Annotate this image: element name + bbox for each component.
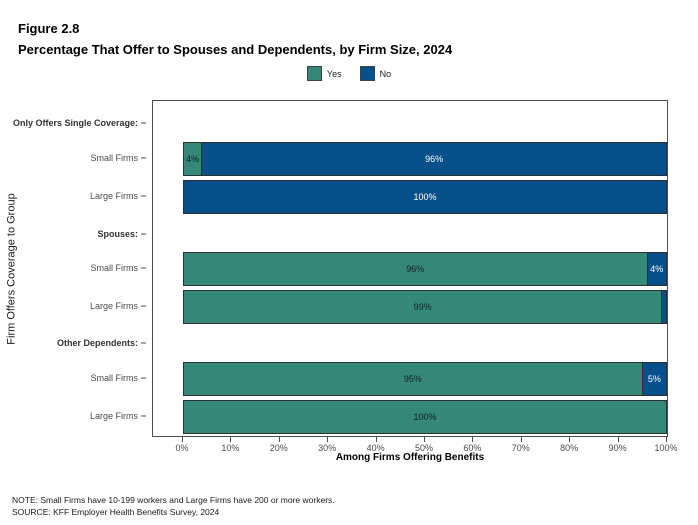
x-axis-tick <box>424 437 425 442</box>
bar-segment-yes[interactable]: 96% <box>183 252 648 286</box>
bar-value-label: 100% <box>413 193 436 202</box>
y-axis-tick <box>141 123 146 124</box>
x-axis-tick <box>376 437 377 442</box>
page-title: Percentage That Offer to Spouses and Dep… <box>18 39 678 60</box>
y-axis-row-label: Large Firms <box>90 411 138 421</box>
bar-value-label: 96% <box>406 265 424 274</box>
x-axis-tick <box>230 437 231 442</box>
bar-segment-no[interactable]: 100% <box>183 180 667 214</box>
y-axis-group-label: Spouses: <box>97 229 138 239</box>
y-axis-row-label: Large Firms <box>90 301 138 311</box>
figure-header: Figure 2.8 Percentage That Offer to Spou… <box>18 18 678 60</box>
x-axis-tick <box>182 437 183 442</box>
chart-legend: YesNo <box>0 66 698 81</box>
plot-area: 4%96%100%96%4%99%95%5%100% <box>152 100 668 437</box>
bar-value-label: 100% <box>413 413 436 422</box>
x-axis-tick <box>472 437 473 442</box>
y-axis-group-label: Only Offers Single Coverage: <box>13 118 138 128</box>
x-axis-title: Among Firms Offering Benefits <box>152 452 668 463</box>
footnote-note: NOTE: Small Firms have 10-199 workers an… <box>12 494 682 506</box>
y-axis-row-label: Small Firms <box>91 373 139 383</box>
bar-value-label: 99% <box>414 303 432 312</box>
legend-label-yes: Yes <box>327 69 342 79</box>
footnote-source: SOURCE: KFF Employer Health Benefits Sur… <box>12 506 682 518</box>
bar-value-label: 95% <box>404 375 422 384</box>
legend-item-no[interactable]: No <box>360 66 392 81</box>
bar-row: 95%5% <box>183 362 667 396</box>
legend-item-yes[interactable]: Yes <box>307 66 342 81</box>
figure-number: Figure 2.8 <box>18 18 678 39</box>
x-axis-tick <box>618 437 619 442</box>
bar-segment-yes[interactable]: 99% <box>183 290 662 324</box>
y-axis-tick <box>141 234 146 235</box>
y-axis-row-label: Large Firms <box>90 191 138 201</box>
legend-label-no: No <box>380 69 392 79</box>
bar-segment-yes[interactable]: 4% <box>183 142 202 176</box>
bar-segment-no[interactable] <box>662 290 667 324</box>
y-axis-tick <box>141 268 146 269</box>
y-axis-tick <box>141 416 146 417</box>
x-axis-tick <box>666 437 667 442</box>
legend-swatch-no <box>360 66 375 81</box>
y-axis-labels: Only Offers Single Coverage:Small FirmsL… <box>0 100 146 437</box>
y-axis-tick <box>141 158 146 159</box>
bar-value-label: 4% <box>650 265 663 274</box>
bar-value-label: 96% <box>425 155 443 164</box>
bar-value-label: 4% <box>186 155 199 164</box>
bar-row: 100% <box>183 400 667 434</box>
bar-segment-no[interactable]: 5% <box>643 362 667 396</box>
y-axis-tick <box>141 378 146 379</box>
bar-segment-yes[interactable]: 100% <box>183 400 667 434</box>
bar-row: 4%96% <box>183 142 667 176</box>
y-axis-tick <box>141 343 146 344</box>
x-axis-tick <box>279 437 280 442</box>
y-axis-row-label: Small Firms <box>91 153 139 163</box>
legend-swatch-yes <box>307 66 322 81</box>
bars-layer: 4%96%100%96%4%99%95%5%100% <box>153 101 667 436</box>
bar-segment-yes[interactable]: 95% <box>183 362 643 396</box>
x-axis-tick <box>521 437 522 442</box>
bar-value-label: 5% <box>648 375 661 384</box>
y-axis-tick <box>141 306 146 307</box>
footnotes: NOTE: Small Firms have 10-199 workers an… <box>12 494 682 518</box>
y-axis-tick <box>141 196 146 197</box>
y-axis-row-label: Small Firms <box>91 263 139 273</box>
bar-segment-no[interactable]: 4% <box>648 252 667 286</box>
bar-row: 96%4% <box>183 252 667 286</box>
x-axis-tick <box>569 437 570 442</box>
x-axis-tick <box>327 437 328 442</box>
bar-row: 100% <box>183 180 667 214</box>
bar-segment-no[interactable]: 96% <box>202 142 667 176</box>
y-axis-group-label: Other Dependents: <box>57 338 138 348</box>
bar-row: 99% <box>183 290 667 324</box>
